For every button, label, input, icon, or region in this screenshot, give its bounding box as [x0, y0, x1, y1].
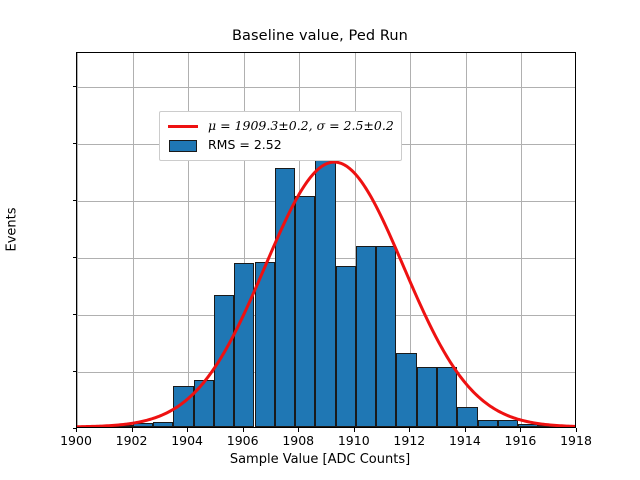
x-tick-mark — [298, 428, 299, 432]
x-tick-label: 1908 — [268, 433, 328, 448]
y-tick-mark — [73, 200, 77, 201]
x-tick-mark — [520, 428, 521, 432]
x-tick-mark — [409, 428, 410, 432]
legend-label-rms: RMS = 2.52 — [208, 139, 282, 152]
x-tick-label: 1914 — [435, 433, 495, 448]
legend-entry-fit: μ = 1909.3±0.2, σ = 2.5±0.2 — [166, 117, 394, 136]
legend-patch-swatch — [166, 140, 200, 152]
plot-axes: μ = 1909.3±0.2, σ = 2.5±0.2 RMS = 2.52 — [76, 52, 576, 428]
legend-entry-rms: RMS = 2.52 — [166, 136, 394, 155]
y-tick-mark — [73, 143, 77, 144]
y-axis-label: Events — [5, 130, 20, 330]
x-tick-label: 1902 — [102, 433, 162, 448]
chart-legend: μ = 1909.3±0.2, σ = 2.5±0.2 RMS = 2.52 — [159, 111, 402, 161]
chart-title: Baseline value, Ped Run — [0, 28, 640, 44]
x-tick-mark — [465, 428, 466, 432]
figure-canvas: Baseline value, Ped Run μ = 1909.3±0.2, … — [0, 0, 640, 480]
x-tick-label: 1906 — [213, 433, 273, 448]
y-tick-mark — [73, 428, 77, 429]
x-axis-label: Sample Value [ADC Counts] — [0, 452, 640, 467]
y-tick-mark — [73, 314, 77, 315]
x-tick-label: 1916 — [490, 433, 550, 448]
x-tick-label: 1918 — [546, 433, 606, 448]
x-tick-mark — [187, 428, 188, 432]
x-tick-mark — [243, 428, 244, 432]
y-tick-mark — [73, 86, 77, 87]
x-tick-mark — [76, 428, 77, 432]
x-tick-mark — [576, 428, 577, 432]
gaussian-fit-curve — [77, 53, 575, 427]
x-tick-mark — [132, 428, 133, 432]
plot-area — [77, 53, 575, 427]
x-tick-label: 1910 — [324, 433, 384, 448]
x-tick-mark — [354, 428, 355, 432]
legend-line-swatch — [166, 125, 200, 128]
x-tick-label: 1904 — [157, 433, 217, 448]
x-tick-label: 1912 — [379, 433, 439, 448]
y-tick-mark — [73, 257, 77, 258]
legend-label-fit: μ = 1909.3±0.2, σ = 2.5±0.2 — [208, 120, 394, 133]
y-tick-mark — [73, 371, 77, 372]
